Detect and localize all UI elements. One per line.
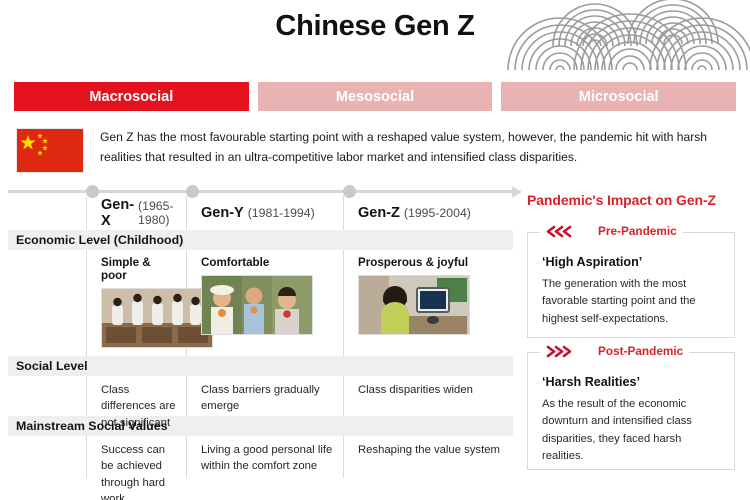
section-band-social-level: Social Level [8, 356, 513, 376]
post-pandemic-text: As the result of the economic downturn a… [542, 396, 720, 465]
post-pandemic-body: ‘Harsh Realities’ As the result of the e… [528, 353, 734, 475]
timeline-arrow-icon [512, 186, 522, 198]
generation-years: (1965-1980) [138, 199, 186, 227]
pre-pandemic-label-group: Pre-Pandemic [540, 224, 683, 238]
matrix-cell: Prosperous & joyful [343, 250, 513, 356]
cell-text: Living a good personal life within the c… [201, 442, 333, 475]
matrix-cell: Simple & poor [86, 250, 186, 356]
generation-name: Gen-Y [201, 205, 244, 221]
generation-header-genx: Gen-X (1965-1980) [86, 196, 186, 230]
section-band-mainstream-values: Mainstream Social Values [8, 416, 513, 436]
infographic-page: Chinese Gen Z Macrosocial Mesosocial Mic… [0, 0, 750, 500]
chevron-right-svg [546, 345, 572, 358]
pre-pandemic-heading: ‘High Aspiration’ [542, 255, 720, 269]
post-pandemic-box: Post-Pandemic ‘Harsh Realities’ As the r… [527, 352, 735, 470]
cell-heading: Comfortable [201, 256, 333, 269]
cell-text: Class disparities widen [358, 382, 503, 398]
post-pandemic-label-group: Post-Pandemic [540, 344, 689, 358]
tab-bar: Macrosocial Mesosocial Microsocial [14, 82, 736, 111]
tab-mesosocial[interactable]: Mesosocial [258, 82, 493, 111]
cell-text: Class barriers gradually emerge [201, 382, 333, 415]
description-text: Gen Z has the most favourable starting p… [100, 128, 736, 167]
triple-chevron-right-icon [546, 345, 572, 358]
section-band-economic-level: Economic Level (Childhood) [8, 230, 513, 250]
photo-svg [102, 289, 212, 347]
generation-years: (1995-2004) [404, 206, 471, 220]
generation-matrix: Gen-X (1965-1980) Gen-Y (1981-1994) Gen-… [8, 196, 513, 478]
china-flag [16, 128, 84, 173]
tab-macrosocial[interactable]: Macrosocial [14, 82, 249, 111]
tab-microsocial[interactable]: Microsocial [501, 82, 736, 111]
classroom-children-photo [101, 288, 213, 348]
section-row-economic-level: Simple & poor [8, 250, 513, 356]
pre-pandemic-box: Pre-Pandemic ‘High Aspiration’ The gener… [527, 232, 735, 338]
generation-timeline [8, 190, 513, 193]
boy-computer-photo [358, 275, 470, 335]
post-pandemic-label: Post-Pandemic [598, 344, 683, 358]
section-row-mainstream-values: Success can be achieved through hard wor… [8, 436, 513, 478]
generation-header-geny: Gen-Y (1981-1994) [186, 196, 343, 230]
matrix-cell: Success can be achieved through hard wor… [86, 436, 186, 478]
children-eating-photo [201, 275, 313, 335]
cell-heading: Prosperous & joyful [358, 256, 503, 269]
generation-years: (1981-1994) [248, 206, 315, 220]
photo-svg [359, 276, 469, 334]
matrix-cell: Reshaping the value system [343, 436, 513, 478]
chevron-left-svg [546, 225, 572, 238]
page-title: Chinese Gen Z [0, 10, 750, 43]
matrix-cell: Class differences are not significant [86, 376, 186, 416]
matrix-cell: Class disparities widen [343, 376, 513, 416]
generation-name: Gen-X [101, 197, 134, 229]
pre-pandemic-body: ‘High Aspiration’ The generation with th… [528, 233, 734, 338]
cell-text: Success can be achieved through hard wor… [101, 442, 176, 500]
section-row-social-level: Class differences are not significant Cl… [8, 376, 513, 416]
generation-name: Gen-Z [358, 205, 400, 221]
panel-title: Pandemic's Impact on Gen-Z [527, 192, 716, 208]
triple-chevron-left-icon [546, 225, 572, 238]
cell-heading: Simple & poor [101, 256, 176, 282]
pre-pandemic-text: The generation with the most favorable s… [542, 276, 720, 328]
matrix-cell: Class barriers gradually emerge [186, 376, 343, 416]
matrix-cell: Living a good personal life within the c… [186, 436, 343, 478]
china-flag-svg [17, 129, 83, 172]
generation-header-row: Gen-X (1965-1980) Gen-Y (1981-1994) Gen-… [8, 196, 513, 230]
pre-pandemic-label: Pre-Pandemic [598, 224, 677, 238]
generation-header-genz: Gen-Z (1995-2004) [343, 196, 513, 230]
cell-text: Reshaping the value system [358, 442, 503, 458]
photo-svg [202, 276, 312, 334]
post-pandemic-heading: ‘Harsh Realities’ [542, 375, 720, 389]
